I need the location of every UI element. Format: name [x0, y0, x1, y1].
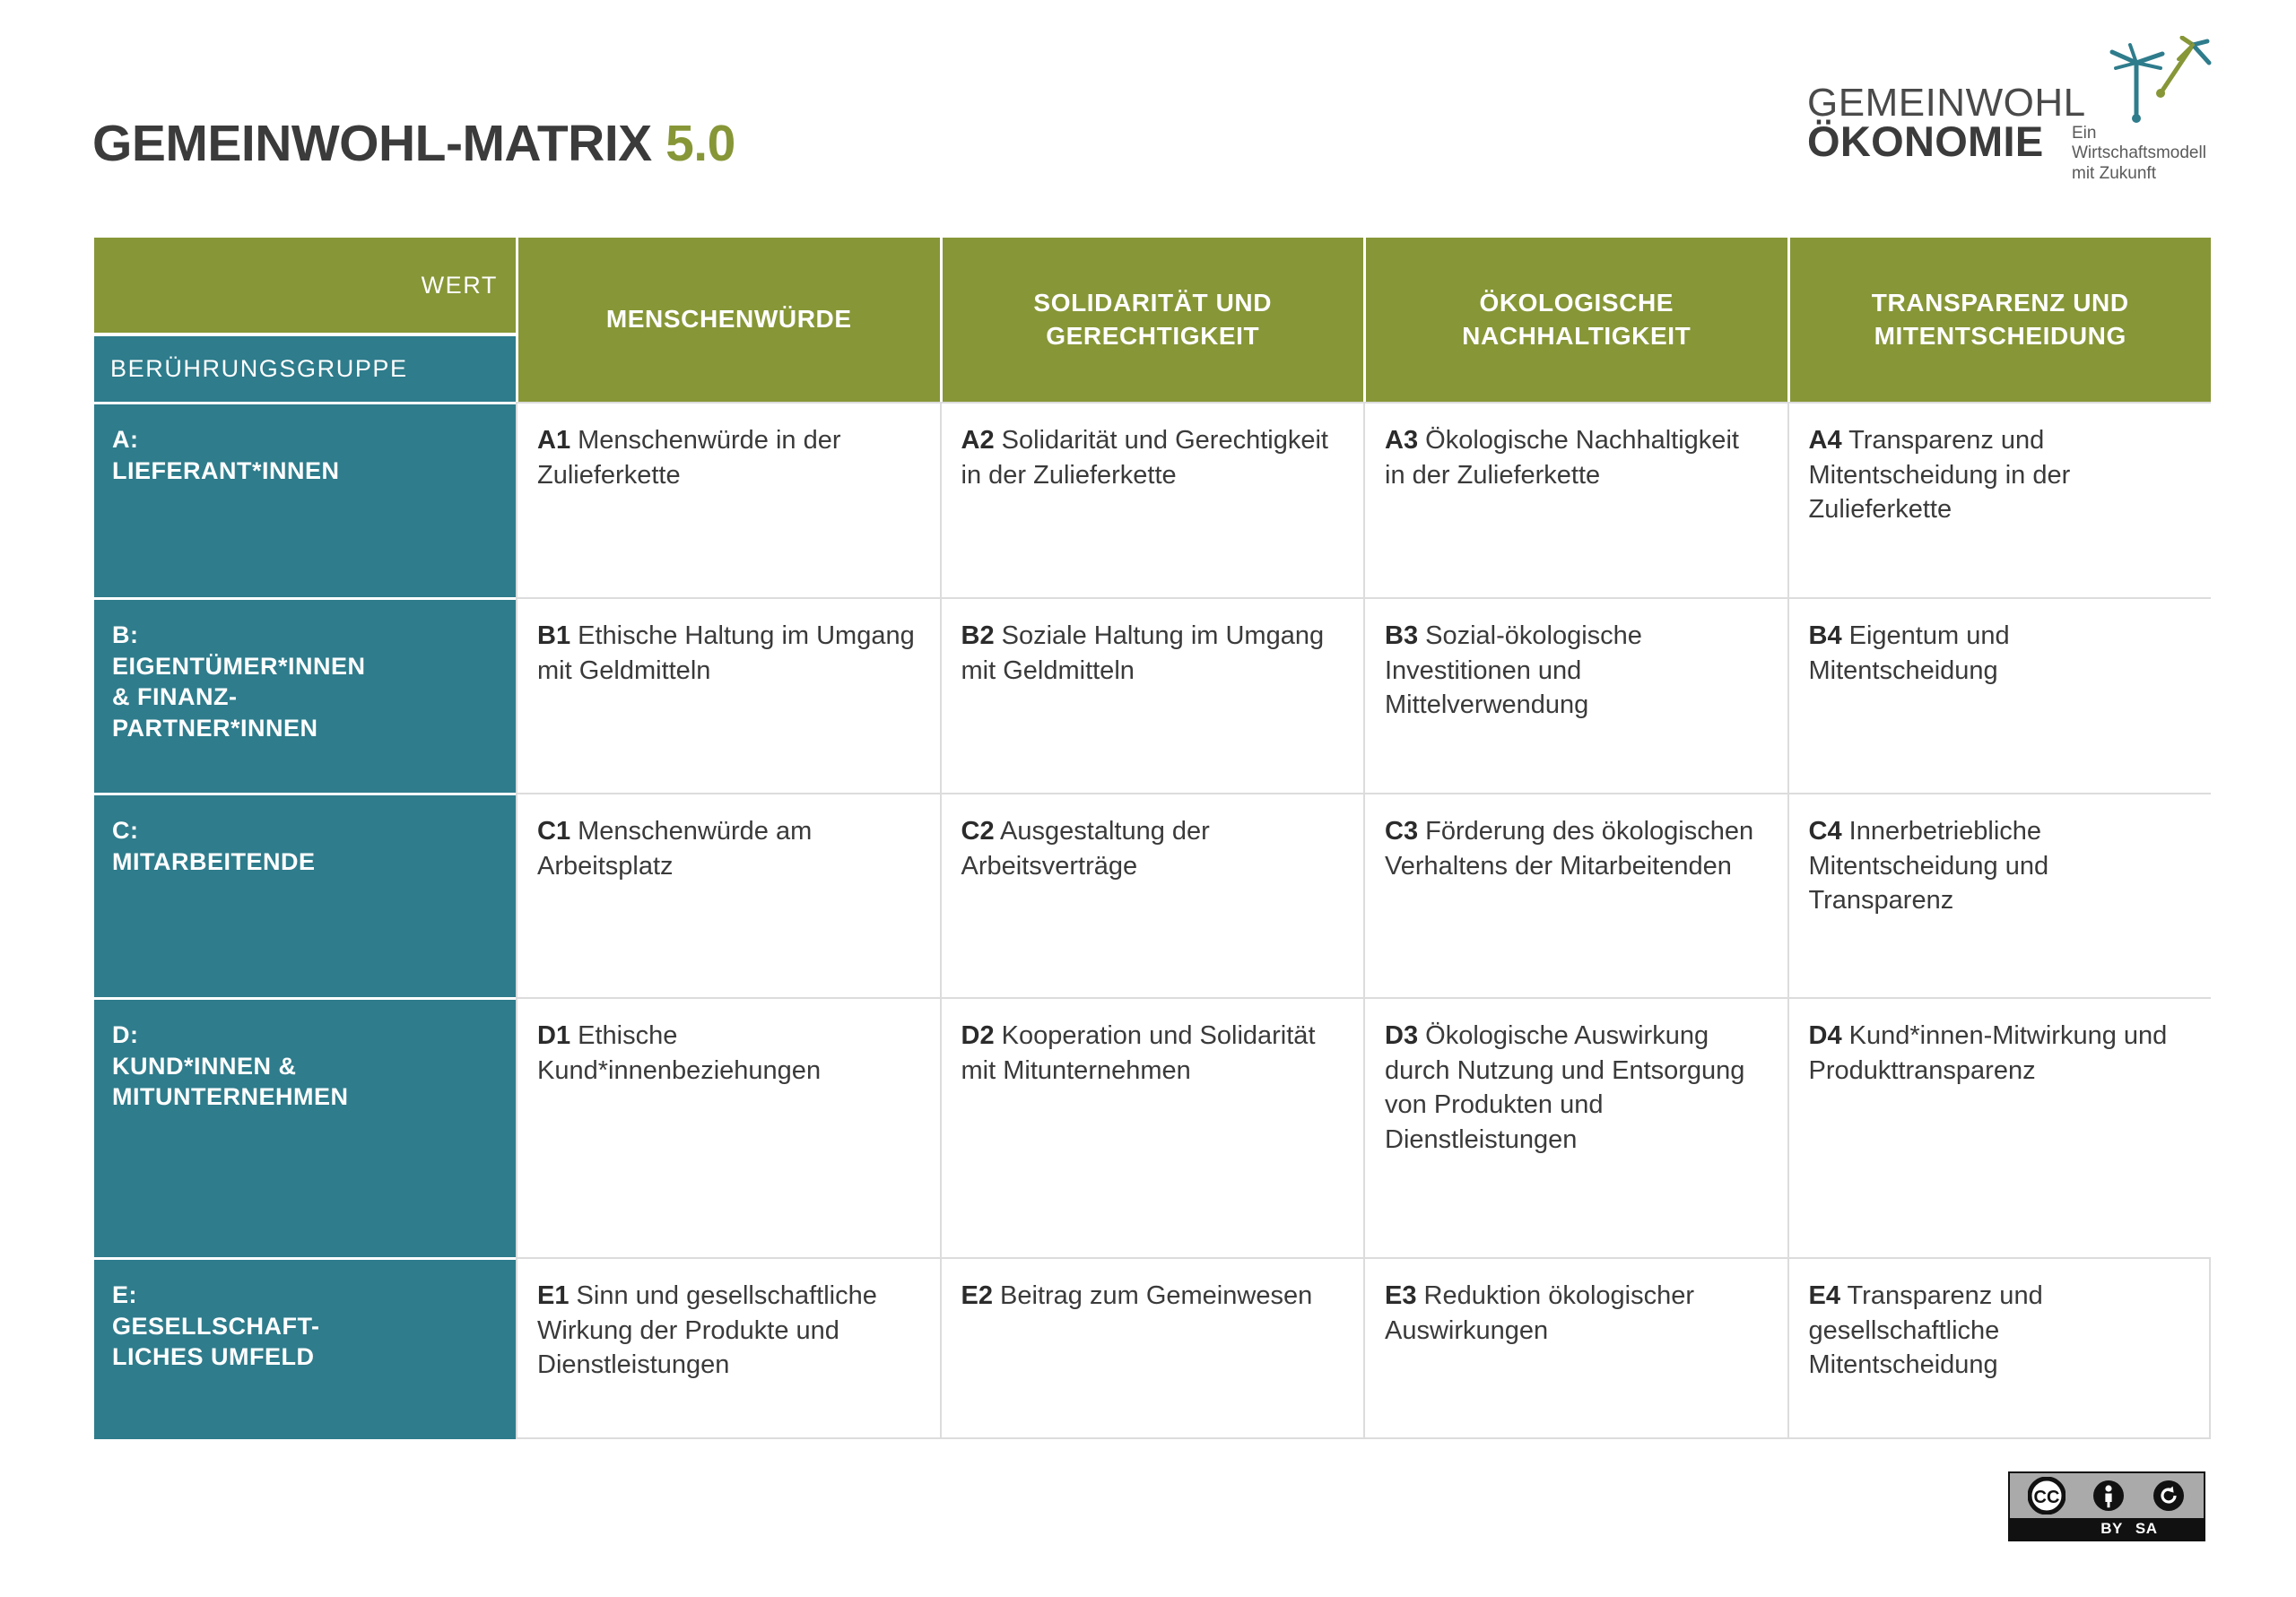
- column-header-menschenwuerde: MENSCHENWÜRDE: [516, 238, 940, 402]
- column-header-transparenz-mitentscheidung: TRANSPARENZ UND MITENTSCHEIDUNG: [1787, 238, 2212, 402]
- matrix-cell-c4: C4 Innerbetriebliche Mitentscheidung und…: [1787, 793, 2212, 997]
- matrix-cell-e1: E1 Sinn und gesellschaftliche Wirkung de…: [516, 1257, 940, 1439]
- cell-code-a1: A1: [537, 426, 570, 455]
- cell-text-b2: Soziale Haltung im Umgang mit Geldmittel…: [961, 621, 1325, 685]
- cell-text-d3: Ökologische Auswirkung durch Nutzung und…: [1385, 1021, 1744, 1154]
- cell-code-e1: E1: [537, 1281, 569, 1310]
- cell-code-e4: E4: [1809, 1281, 1840, 1310]
- matrix-cell-e3: E3 Reduktion ökologischer Auswirkungen: [1363, 1257, 1787, 1439]
- matrix-cell-a3: A3 Ökologische Nachhaltigkeit in der Zul…: [1363, 402, 1787, 597]
- cell-code-e3: E3: [1385, 1281, 1416, 1310]
- cell-code-c4: C4: [1809, 817, 1842, 846]
- cell-text-a3: Ökologische Nachhaltigkeit in der Zulief…: [1385, 426, 1739, 490]
- page-title-main: GEMEINWOHL-MATRIX: [92, 115, 652, 172]
- matrix-cell-a1: A1 Menschenwürde in der Zulieferkette: [516, 402, 940, 597]
- cc-label-sa: SA: [2130, 1520, 2204, 1538]
- creative-commons-by-sa-badge: CC BY SA: [2008, 1471, 2205, 1541]
- share-alike-icon: [2152, 1479, 2186, 1513]
- column-header-solidaritaet-gerechtigkeit: SOLIDARITÄT UND GERECHTIGKEIT: [940, 238, 1364, 402]
- cell-text-d4: Kund*innen-Mitwirkung und Produkttranspa…: [1809, 1021, 2168, 1085]
- matrix-poster: GEMEINWOHL-MATRIX 5.0 GEMEINWOHL ÖKONOMI…: [0, 0, 2296, 1597]
- logo-tagline: Ein Wirtschaftsmodell mit Zukunft: [2072, 124, 2215, 184]
- cell-text-a4: Transparenz und Mitentscheidung in der Z…: [1809, 426, 2071, 524]
- cell-code-b2: B2: [961, 621, 995, 650]
- cell-text-e2: Beitrag zum Gemeinwesen: [1000, 1281, 1312, 1310]
- cell-code-c2: C2: [961, 817, 995, 846]
- matrix-cell-b4: B4 Eigentum und Mitentscheidung: [1787, 597, 2212, 793]
- row-header-a-lieferantinnen: A:LIEFERANT*INNEN: [94, 402, 516, 597]
- row-header-b-eigentuemerinnen: B:EIGENTÜMER*INNEN& FINANZ-PARTNER*INNEN: [94, 597, 516, 793]
- cell-code-a4: A4: [1809, 426, 1842, 455]
- matrix-cell-d3: D3 Ökologische Auswirkung durch Nutzung …: [1363, 997, 1787, 1257]
- cell-code-e2: E2: [961, 1281, 993, 1310]
- cell-text-e1: Sinn und gesellschaftliche Wirkung der P…: [537, 1281, 877, 1379]
- cell-text-b1: Ethische Haltung im Umgang mit Geldmitte…: [537, 621, 915, 685]
- value-axis-label: WERT: [422, 272, 516, 299]
- matrix-cell-d2: D2 Kooperation und Solidarität mit Mitun…: [940, 997, 1364, 1257]
- gemeinwohl-matrix-table: WERT BERÜHRUNGSGRUPPE MENSCHENWÜRDE SOLI…: [94, 238, 2211, 1439]
- cell-text-c2: Ausgestaltung der Arbeitsverträge: [961, 817, 1210, 881]
- cell-text-d1: Ethische Kund*innenbeziehungen: [537, 1021, 821, 1085]
- cell-code-a3: A3: [1385, 426, 1418, 455]
- stakeholder-axis-header: BERÜHRUNGSGRUPPE: [94, 336, 516, 402]
- page-title: GEMEINWOHL-MATRIX 5.0: [92, 114, 735, 173]
- column-header-oekologische-nachhaltigkeit: ÖKOLOGISCHE NACHHALTIGKEIT: [1363, 238, 1787, 402]
- row-header-e-gesellschaftliches-umfeld: E:GESELLSCHAFT-LICHES UMFELD: [94, 1257, 516, 1439]
- attribution-person-icon: [2092, 1479, 2126, 1513]
- cell-code-b1: B1: [537, 621, 570, 650]
- stakeholder-axis-label: BERÜHRUNGSGRUPPE: [94, 355, 408, 383]
- cell-code-c1: C1: [537, 817, 570, 846]
- page-title-version: 5.0: [665, 115, 735, 172]
- cell-text-e3: Reduktion ökologischer Auswirkungen: [1385, 1281, 1694, 1345]
- gemeinwohl-oekonomie-logo: GEMEINWOHL ÖKONOMIE Ein Wirtschaftsmodel…: [1807, 38, 2211, 163]
- cell-text-d2: Kooperation und Solidarität mit Mitunter…: [961, 1021, 1316, 1085]
- dragonfly-plant-mark-icon: [2096, 36, 2213, 126]
- cell-text-a2: Solidarität und Gerechtigkeit in der Zul…: [961, 426, 1328, 490]
- matrix-cell-d4: D4 Kund*innen-Mitwirkung und Produkttran…: [1787, 997, 2212, 1257]
- matrix-cell-b1: B1 Ethische Haltung im Umgang mit Geldmi…: [516, 597, 940, 793]
- cell-text-c3: Förderung des ökologischen Verhaltens de…: [1385, 817, 1753, 881]
- value-axis-header: WERT: [94, 238, 516, 333]
- cell-text-b3: Sozial-ökologische Investitionen und Mit…: [1385, 621, 1642, 719]
- matrix-cell-d1: D1 Ethische Kund*innenbeziehungen: [516, 997, 940, 1257]
- row-header-c-mitarbeitende: C:MITARBEITENDE: [94, 793, 516, 997]
- cell-code-a2: A2: [961, 426, 995, 455]
- matrix-cell-c1: C1 Menschenwürde am Arbeitsplatz: [516, 793, 940, 997]
- matrix-cell-c2: C2 Ausgestaltung der Arbeitsverträge: [940, 793, 1364, 997]
- cell-text-c4: Innerbetriebliche Mitentscheidung und Tr…: [1809, 817, 2049, 915]
- matrix-cell-a4: A4 Transparenz und Mitentscheidung in de…: [1787, 402, 2212, 597]
- cc-badge-labels: BY SA: [2010, 1518, 2204, 1540]
- cell-text-c1: Menschenwürde am Arbeitsplatz: [537, 817, 812, 881]
- cell-code-b4: B4: [1809, 621, 1842, 650]
- cell-code-d1: D1: [537, 1021, 570, 1050]
- cell-code-c3: C3: [1385, 817, 1418, 846]
- matrix-cell-a2: A2 Solidarität und Gerechtigkeit in der …: [940, 402, 1364, 597]
- matrix-cell-e2: E2 Beitrag zum Gemeinwesen: [940, 1257, 1364, 1439]
- creative-commons-icon: CC: [2028, 1477, 2066, 1515]
- cell-code-b3: B3: [1385, 621, 1418, 650]
- matrix-corner-cell: WERT BERÜHRUNGSGRUPPE: [94, 238, 516, 402]
- matrix-cell-c3: C3 Förderung des ökologischen Verhaltens…: [1363, 793, 1787, 997]
- cell-code-d3: D3: [1385, 1021, 1418, 1050]
- cc-badge-icons: CC: [2010, 1473, 2204, 1518]
- cell-text-e4: Transparenz und gesellschaftliche Mitent…: [1809, 1281, 2043, 1379]
- svg-text:CC: CC: [2034, 1488, 2060, 1507]
- row-header-d-kundinnen-mitunternehmen: D:KUND*INNEN &MITUNTERNEHMEN: [94, 997, 516, 1257]
- matrix-cell-e4: E4 Transparenz und gesellschaftliche Mit…: [1787, 1257, 2212, 1439]
- logo-word-oekonomie: ÖKONOMIE: [1807, 117, 2044, 166]
- cell-text-a1: Menschenwürde in der Zulieferkette: [537, 426, 841, 490]
- cell-code-d4: D4: [1809, 1021, 1842, 1050]
- matrix-cell-b3: B3 Sozial-ökologische Investitionen und …: [1363, 597, 1787, 793]
- matrix-cell-b2: B2 Soziale Haltung im Umgang mit Geldmit…: [940, 597, 1364, 793]
- cc-label-by: BY: [2010, 1520, 2130, 1538]
- cell-code-d2: D2: [961, 1021, 995, 1050]
